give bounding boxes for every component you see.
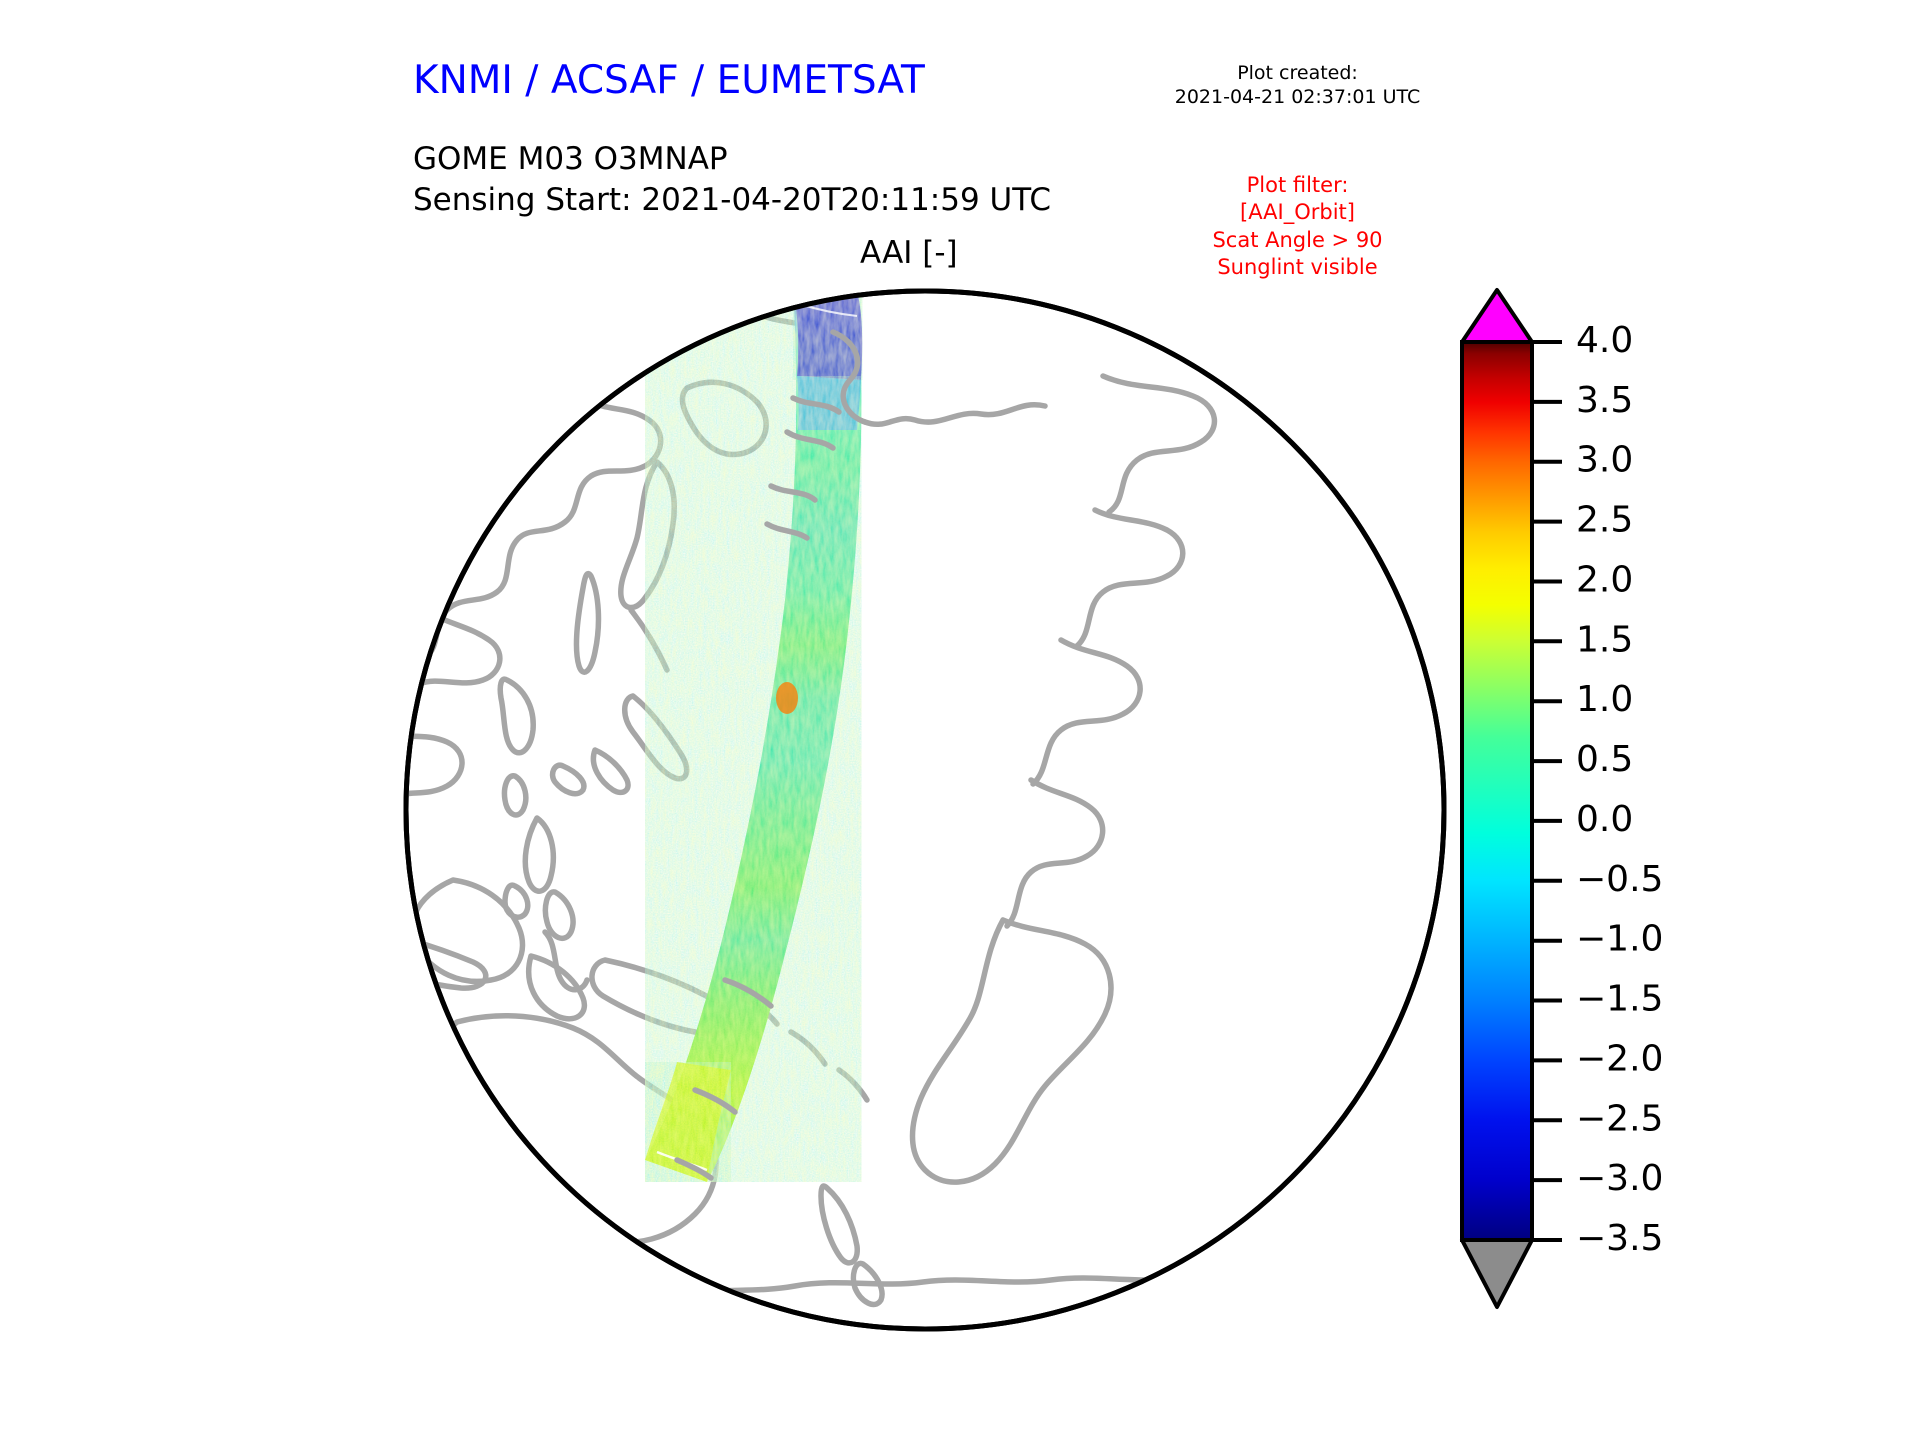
colorbar-under-arrow: [1462, 1240, 1532, 1307]
colorbar-tick-label: 1.0: [1576, 679, 1633, 720]
plot-created-value: 2021-04-21 02:37:01 UTC: [1155, 86, 1440, 110]
quantity-label: AAI [-]: [860, 235, 958, 271]
colorbar-tick-label: −0.5: [1576, 859, 1663, 900]
organisation-title: KNMI / ACSAF / EUMETSAT: [413, 58, 925, 103]
globe-map: [395, 280, 1455, 1340]
colorbar-tick-label: −1.5: [1576, 979, 1663, 1020]
colorbar-tick-label: 2.0: [1576, 560, 1633, 601]
plot-filter-block: Plot filter: [AAI_Orbit] Scat Angle > 90…: [1155, 172, 1440, 281]
colorbar-tick-label: 0.5: [1576, 739, 1633, 780]
colorbar-tick-labels: 4.0 3.5 3.0 2.5 2.0 1.5 1.0 0.5 0.0 −0.5…: [1576, 320, 1663, 1259]
colorbar-tick-label: −2.0: [1576, 1038, 1663, 1079]
instrument-line: GOME M03 O3MNAP: [413, 139, 1051, 180]
plot-filter-line-3: Scat Angle > 90: [1155, 227, 1440, 254]
colorbar-ticks: [1532, 342, 1562, 1240]
plot-filter-line-2: [AAI_Orbit]: [1155, 199, 1440, 226]
colorbar-gradient: [1462, 342, 1532, 1240]
plot-filter-line-4: Sunglint visible: [1155, 254, 1440, 281]
colorbar-tick-label: 4.0: [1576, 320, 1633, 361]
colorbar-tick-label: −3.0: [1576, 1158, 1663, 1199]
swath-hotspot: [776, 682, 798, 714]
colorbar-tick-label: −2.5: [1576, 1098, 1663, 1139]
plot-filter-line-1: Plot filter:: [1155, 172, 1440, 199]
plot-created-block: Plot created: 2021-04-21 02:37:01 UTC: [1155, 62, 1440, 110]
colorbar-tick-label: 0.0: [1576, 799, 1633, 840]
colorbar-tick-label: −1.0: [1576, 919, 1663, 960]
colorbar-tick-label: 1.5: [1576, 619, 1633, 660]
plot-created-label: Plot created:: [1155, 62, 1440, 86]
colorbar-tick-label: −3.5: [1576, 1218, 1663, 1259]
product-title-block: GOME M03 O3MNAP Sensing Start: 2021-04-2…: [413, 139, 1051, 221]
colorbar: 4.0 3.5 3.0 2.5 2.0 1.5 1.0 0.5 0.0 −0.5…: [1450, 285, 1780, 1355]
colorbar-over-arrow: [1462, 290, 1532, 342]
colorbar-tick-label: 3.5: [1576, 380, 1633, 421]
colorbar-tick-label: 3.0: [1576, 440, 1633, 481]
colorbar-tick-label: 2.5: [1576, 500, 1633, 541]
sensing-start-line: Sensing Start: 2021-04-20T20:11:59 UTC: [413, 180, 1051, 221]
